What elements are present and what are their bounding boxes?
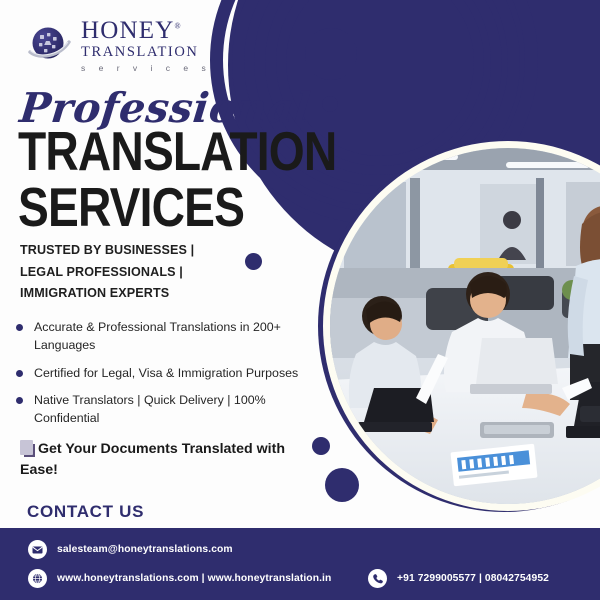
logo-line-translation: TRANSLATION bbox=[81, 45, 211, 60]
decorative-dot-small bbox=[322, 96, 338, 112]
subheadline-line-3: IMMIGRATION EXPERTS bbox=[20, 283, 194, 305]
bullet-dot-icon bbox=[16, 324, 23, 331]
bullet-text: Accurate & Professional Translations in … bbox=[34, 318, 304, 355]
contact-website-text: www.honeytranslations.com | www.honeytra… bbox=[57, 573, 331, 584]
globe-icon bbox=[28, 569, 47, 588]
brand-logo[interactable]: HONEY® TRANSLATION s e r v i c e s bbox=[26, 18, 211, 72]
list-item: Native Translators | Quick Delivery | 10… bbox=[16, 391, 304, 428]
document-page-icon bbox=[20, 440, 33, 455]
decorative-dot-large bbox=[305, 28, 357, 80]
contact-email-text: salesteam@honeytranslations.com bbox=[57, 544, 233, 555]
decorative-dot-lower-small bbox=[312, 437, 330, 455]
registered-mark: ® bbox=[175, 22, 182, 31]
bullet-text: Certified for Legal, Visa & Immigration … bbox=[34, 364, 298, 382]
feature-bullet-list: Accurate & Professional Translations in … bbox=[16, 318, 304, 437]
contact-phone-text: +91 7299005577 | 08042754952 bbox=[397, 573, 549, 584]
subheadline-line-1: TRUSTED BY BUSINESSES | bbox=[20, 240, 194, 262]
list-item: Accurate & Professional Translations in … bbox=[16, 318, 304, 355]
headline-line-1: TRANSLATION bbox=[18, 126, 336, 177]
phone-icon bbox=[368, 569, 387, 588]
subheadline: TRUSTED BY BUSINESSES | LEGAL PROFESSION… bbox=[20, 240, 194, 305]
headline-line-2: SERVICES bbox=[18, 182, 244, 233]
contact-footer-bar: salesteam@honeytranslations.com www.hone… bbox=[0, 528, 600, 600]
list-item: Certified for Legal, Visa & Immigration … bbox=[16, 364, 304, 382]
logo-brand-name: HONEY® bbox=[81, 18, 182, 43]
bullet-text: Native Translators | Quick Delivery | 10… bbox=[34, 391, 304, 428]
logo-line-services: s e r v i c e s bbox=[81, 64, 211, 73]
envelope-icon bbox=[28, 540, 47, 559]
contact-email-row[interactable]: salesteam@honeytranslations.com bbox=[28, 540, 233, 559]
decorative-dot-lower-large bbox=[325, 468, 359, 502]
bullet-dot-icon bbox=[16, 370, 23, 377]
subheadline-line-2: LEGAL PROFESSIONALS | bbox=[20, 262, 194, 284]
bullet-dot-icon bbox=[16, 397, 23, 404]
decorative-dot-mid bbox=[245, 253, 262, 270]
contact-us-heading: CONTACT US bbox=[27, 502, 144, 522]
contact-website-row[interactable]: www.honeytranslations.com | www.honeytra… bbox=[28, 569, 331, 588]
flyer-canvas: HONEY® TRANSLATION s e r v i c e s Profe… bbox=[0, 0, 600, 600]
call-to-action-text: Get Your Documents Translated with Ease! bbox=[20, 441, 285, 478]
call-to-action: Get Your Documents Translated with Ease! bbox=[20, 438, 300, 480]
contact-phone-row[interactable]: +91 7299005577 | 08042754952 bbox=[368, 569, 549, 588]
globe-orbit-icon bbox=[26, 22, 72, 68]
